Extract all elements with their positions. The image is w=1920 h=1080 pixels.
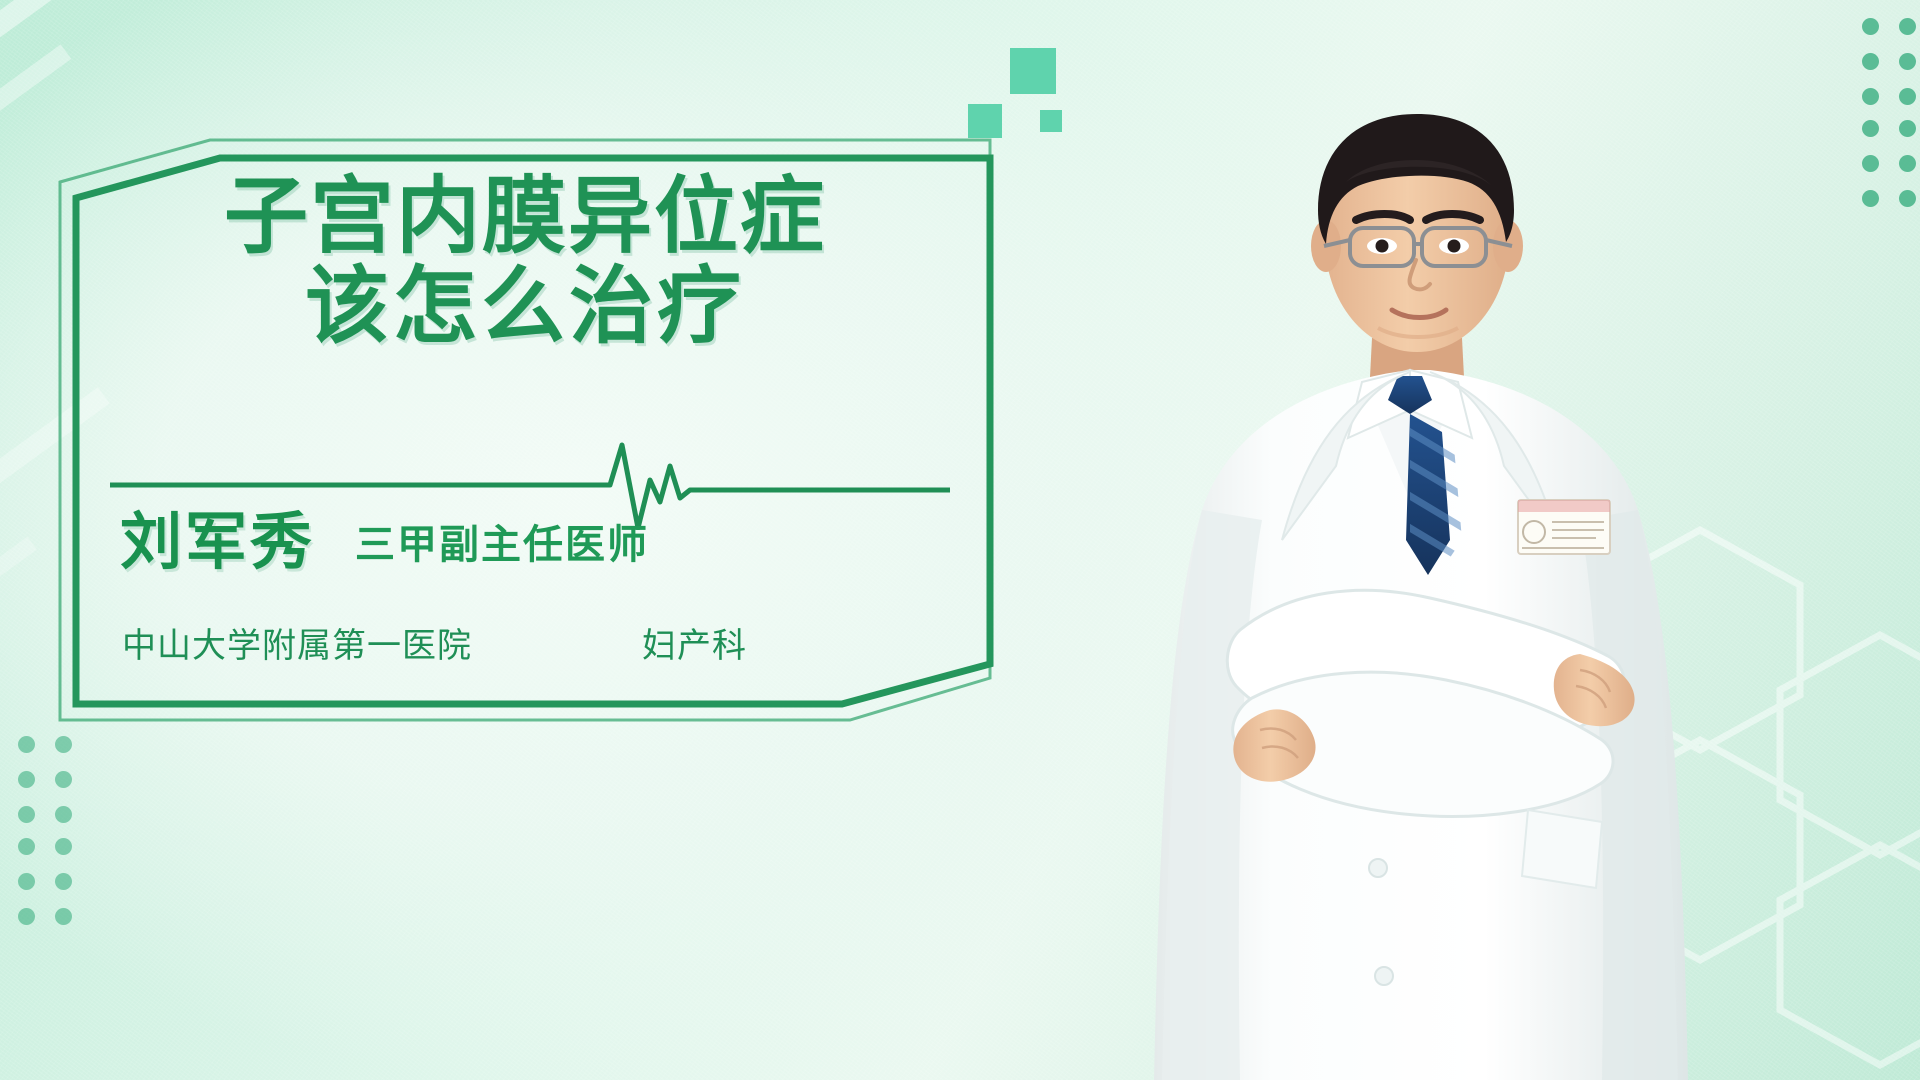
decorative-dot-grid [18, 838, 72, 925]
title-line-1: 子宫内膜异位症 [224, 169, 826, 263]
page-title: 子宫内膜异位症 该怎么治疗 [60, 172, 990, 352]
decorative-dot-grid [18, 736, 72, 823]
poster-canvas: 子宫内膜异位症 该怎么治疗 刘军秀 三甲副主任医师 中山大学附属第一医院 妇产科 [0, 0, 1920, 1080]
decorative-dot-grid [1862, 120, 1916, 207]
decorative-square [968, 104, 1002, 138]
hospital-name: 中山大学附属第一医院 [122, 618, 472, 667]
decorative-square [1010, 48, 1056, 94]
decorative-dot-grid [1862, 18, 1916, 105]
title-line-2: 该怎么治疗 [60, 262, 990, 352]
decorative-square [1040, 110, 1062, 132]
doctor-title: 三甲副主任医师 [355, 521, 649, 574]
id-badge-icon [1518, 500, 1610, 554]
doctor-portrait-icon [1110, 70, 1730, 1080]
department-name: 妇产科 [642, 618, 747, 667]
doctor-identity: 刘军秀 三甲副主任医师 [120, 512, 950, 574]
doctor-portrait [1110, 70, 1730, 1080]
poster-content: 子宫内膜异位症 该怎么治疗 刘军秀 三甲副主任医师 中山大学附属第一医院 妇产科 [60, 140, 990, 720]
doctor-name: 刘军秀 [120, 512, 315, 574]
doctor-affiliation: 中山大学附属第一医院 妇产科 [122, 618, 922, 667]
